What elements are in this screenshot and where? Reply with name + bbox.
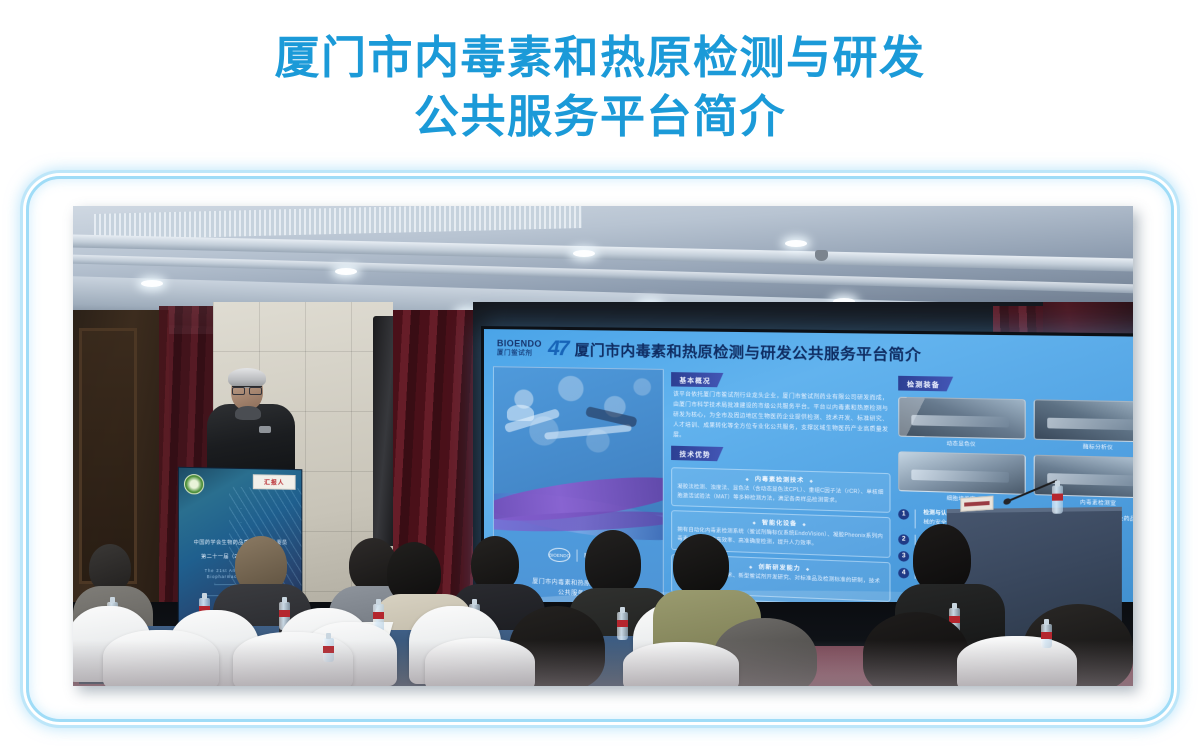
slide-header: BIOENDO 厦门鲎试剂 47 厦门市内毒素和热原检测与研发公共服务平台简介 xyxy=(493,335,1133,371)
lab-instrument-shape xyxy=(585,407,637,428)
speaker-collar xyxy=(235,406,261,420)
equipment-photo xyxy=(1033,399,1133,442)
equipment-thumb-cell: 酶标分析仪 xyxy=(1033,399,1133,452)
service-number-badge: 4 xyxy=(898,568,909,579)
water-bottle xyxy=(617,612,628,640)
speaker-label-tag: 汇报人 xyxy=(253,474,296,490)
name-card xyxy=(960,496,993,512)
ceiling-camera xyxy=(815,250,828,261)
section-badge-equipment: 检测装备 xyxy=(898,376,953,392)
brand-mark-47: 47 xyxy=(548,337,568,361)
audience-head xyxy=(89,544,131,592)
photo-bottom-shade xyxy=(73,640,1133,686)
speaker-person xyxy=(201,372,301,482)
ceiling-spotlight xyxy=(573,250,595,257)
lab-tube-shape xyxy=(544,425,632,441)
photo-scene: BIOENDO 厦门鲎试剂 47 厦门市内毒素和热原检测与研发公共服务平台简介 xyxy=(73,206,1133,686)
association-emblem-icon xyxy=(184,474,204,495)
poster-page: 厦门市内毒素和热原检测与研发 公共服务平台简介 xyxy=(0,0,1200,756)
equipment-caption: 酶标分析仪 xyxy=(1033,442,1133,453)
slide-title: 厦门市内毒素和热原检测与研发公共服务平台简介 xyxy=(575,339,922,365)
ceiling-spotlight xyxy=(335,268,357,275)
equipment-thumb-cell: 细胞培养室 xyxy=(898,451,1025,504)
equipment-thumb-cell: 内毒素检测室 xyxy=(1033,455,1133,509)
ceiling-spotlight xyxy=(785,240,807,247)
brand-name-en: BIOENDO xyxy=(497,339,542,349)
glasses-icon xyxy=(232,386,262,392)
slide-visual-panel: BIOENDO 厦门鲎试剂 厦门市内毒素和热原检测与研发 公共服务平台 xyxy=(493,366,664,620)
equipment-thumb-cell: 动态显色仪 xyxy=(898,397,1025,449)
tech-subsection: 内毒素检测技术 凝胶法检测、浊度法、显色法（含动态显色法CPL）、重组C因子法（… xyxy=(671,467,890,513)
conference-photo: BIOENDO 厦门鲎试剂 47 厦门市内毒素和热原检测与研发公共服务平台简介 xyxy=(73,206,1133,686)
audience-head xyxy=(585,530,641,596)
section-badge-tech: 技术优势 xyxy=(671,446,723,462)
tech-subsection-body: 凝胶法检测、浊度法、显色法（含动态显色法CPL）、重组C因子法（rCR）、单核细… xyxy=(677,483,884,508)
equipment-photo xyxy=(898,451,1025,495)
service-number-badge: 1 xyxy=(898,509,909,520)
brand-name-cn: 厦门鲎试剂 xyxy=(497,350,542,357)
section-badge-overview: 基本概况 xyxy=(671,372,723,387)
equipment-photo xyxy=(1033,455,1133,499)
page-title-line-1: 厦门市内毒素和热原检测与研发 xyxy=(0,28,1200,87)
speaker-jacket-logo xyxy=(259,426,271,433)
logo-seal-icon: BIOENDO xyxy=(548,547,570,562)
logo-divider xyxy=(577,550,578,562)
service-divider xyxy=(915,509,916,528)
water-bottle xyxy=(1052,485,1063,513)
equipment-photo xyxy=(898,397,1025,440)
page-title-line-2: 公共服务平台简介 xyxy=(0,87,1200,146)
service-number-badge: 2 xyxy=(898,534,909,545)
ceiling-spotlight xyxy=(141,280,163,287)
speaker-hair xyxy=(228,368,266,388)
equipment-thumbnail-grid: 动态显色仪 酶标分析仪 细胞培养室 xyxy=(898,397,1133,509)
brand-logo: BIOENDO 厦门鲎试剂 xyxy=(497,339,542,357)
section-paragraph-overview: 该平台依托厦门市鲎试剂行业龙头企业，厦门市鲎试剂药业有限公司研发而成，由厦门市科… xyxy=(671,389,890,445)
page-title: 厦门市内毒素和热原检测与研发 公共服务平台简介 xyxy=(0,28,1200,147)
service-number-badge: 3 xyxy=(898,551,909,562)
audience-head xyxy=(673,534,729,596)
ceiling-vent xyxy=(94,206,582,240)
equipment-caption: 动态显色仪 xyxy=(898,439,1025,449)
